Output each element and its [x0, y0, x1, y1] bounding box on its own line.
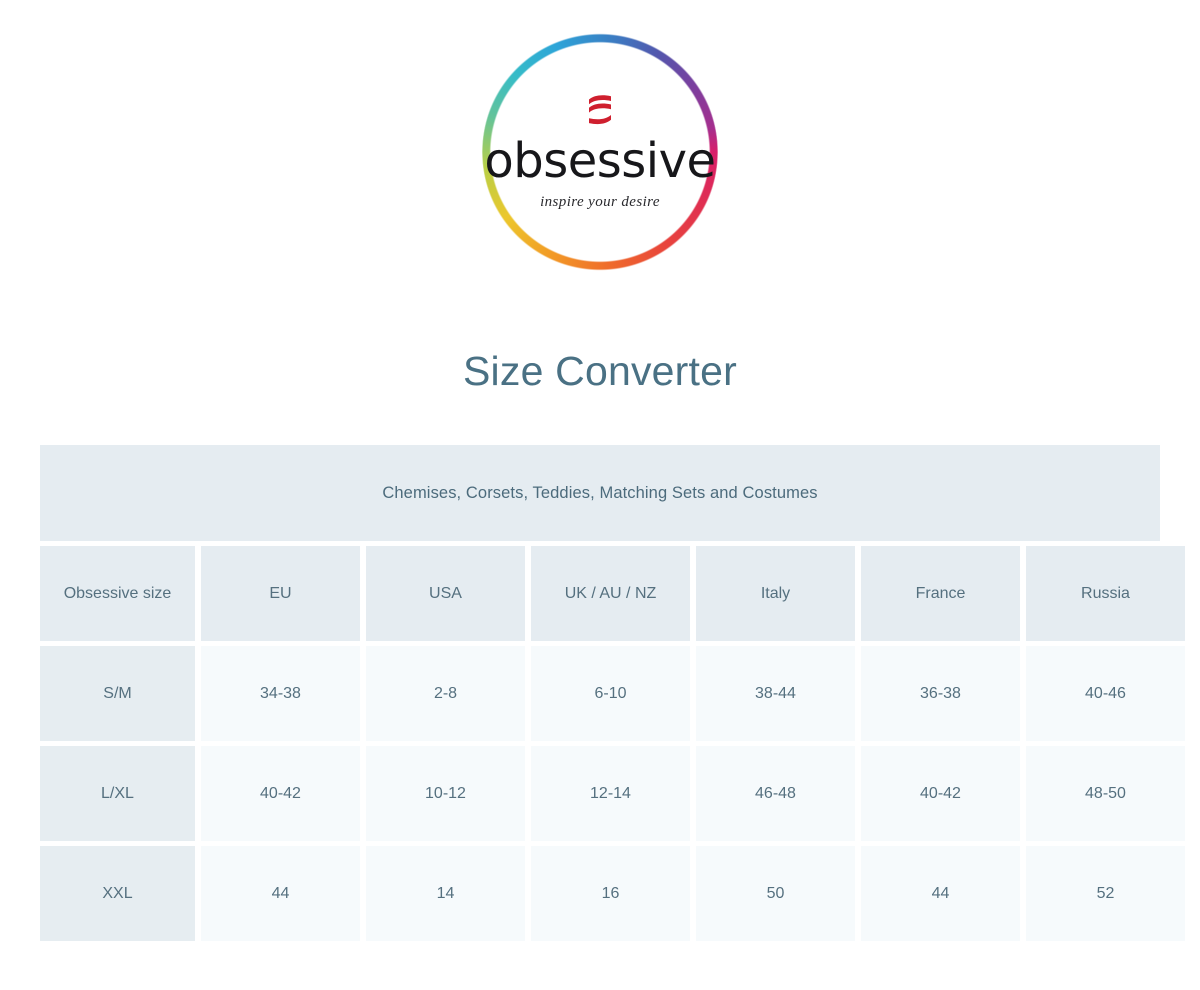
- table-row: L/XL 40-42 10-12 12-14 46-48 40-42 48-50: [40, 746, 1160, 841]
- cell-value: 40-42: [920, 785, 961, 803]
- column-header-russia: Russia: [1026, 546, 1185, 641]
- size-conversion-table: Chemises, Corsets, Teddies, Matching Set…: [40, 445, 1160, 941]
- cell-france: 40-42: [861, 746, 1020, 841]
- table-row: XXL 44 14 16 50 44 52: [40, 846, 1160, 941]
- column-header-usa: USA: [366, 546, 525, 641]
- row-size-label: L/XL: [40, 746, 195, 841]
- cell-value: L/XL: [101, 785, 134, 803]
- cell-usa: 2-8: [366, 646, 525, 741]
- column-header-label: USA: [429, 585, 462, 603]
- column-header-uk-au-nz: UK / AU / NZ: [531, 546, 690, 641]
- cell-value: 12-14: [590, 785, 631, 803]
- cell-value: 16: [602, 885, 620, 903]
- cell-value: 6-10: [594, 685, 626, 703]
- size-converter-page: obsessive inspire your desire Size Conve…: [0, 0, 1200, 990]
- page-title: Size Converter: [0, 348, 1200, 395]
- cell-value: 44: [932, 885, 950, 903]
- cell-value: 38-44: [755, 685, 796, 703]
- cell-eu: 40-42: [201, 746, 360, 841]
- cell-usa: 14: [366, 846, 525, 941]
- cell-france: 36-38: [861, 646, 1020, 741]
- column-header-label: Italy: [761, 585, 790, 603]
- column-header-label: EU: [269, 585, 291, 603]
- cell-value: 40-46: [1085, 685, 1126, 703]
- column-header-eu: EU: [201, 546, 360, 641]
- cell-eu: 44: [201, 846, 360, 941]
- cell-france: 44: [861, 846, 1020, 941]
- cell-eu: 34-38: [201, 646, 360, 741]
- table-header-row: Obsessive size EU USA UK / AU / NZ Italy…: [40, 546, 1160, 641]
- cell-usa: 10-12: [366, 746, 525, 841]
- cell-value: 46-48: [755, 785, 796, 803]
- cell-italy: 38-44: [696, 646, 855, 741]
- cell-value: 52: [1097, 885, 1115, 903]
- cell-italy: 50: [696, 846, 855, 941]
- cell-uk-au-nz: 16: [531, 846, 690, 941]
- table-caption: Chemises, Corsets, Teddies, Matching Set…: [40, 445, 1160, 541]
- cell-value: 50: [767, 885, 785, 903]
- cell-value: 40-42: [260, 785, 301, 803]
- cell-russia: 40-46: [1026, 646, 1185, 741]
- cell-russia: 48-50: [1026, 746, 1185, 841]
- column-header-label: Obsessive size: [64, 585, 172, 603]
- table-caption-text: Chemises, Corsets, Teddies, Matching Set…: [382, 484, 817, 503]
- column-header-label: UK / AU / NZ: [565, 585, 657, 603]
- cell-value: S/M: [103, 685, 131, 703]
- logo-tagline: inspire your desire: [540, 194, 660, 211]
- column-header-france: France: [861, 546, 1020, 641]
- cell-uk-au-nz: 12-14: [531, 746, 690, 841]
- logo-wordmark: obsessive: [484, 137, 715, 185]
- cell-value: 2-8: [434, 685, 457, 703]
- cell-value: 14: [437, 885, 455, 903]
- obsessive-s-monogram-icon: [585, 93, 615, 135]
- cell-value: 44: [272, 885, 290, 903]
- cell-russia: 52: [1026, 846, 1185, 941]
- row-size-label: S/M: [40, 646, 195, 741]
- cell-italy: 46-48: [696, 746, 855, 841]
- cell-value: 48-50: [1085, 785, 1126, 803]
- cell-value: 10-12: [425, 785, 466, 803]
- cell-value: 34-38: [260, 685, 301, 703]
- table-row: S/M 34-38 2-8 6-10 38-44 36-38 40-46: [40, 646, 1160, 741]
- logo-content: obsessive inspire your desire: [482, 31, 718, 273]
- column-header-label: France: [916, 585, 966, 603]
- obsessive-logo: obsessive inspire your desire: [482, 31, 718, 273]
- cell-value: 36-38: [920, 685, 961, 703]
- column-header-obsessive-size: Obsessive size: [40, 546, 195, 641]
- column-header-italy: Italy: [696, 546, 855, 641]
- cell-uk-au-nz: 6-10: [531, 646, 690, 741]
- cell-value: XXL: [102, 885, 132, 903]
- row-size-label: XXL: [40, 846, 195, 941]
- column-header-label: Russia: [1081, 585, 1130, 603]
